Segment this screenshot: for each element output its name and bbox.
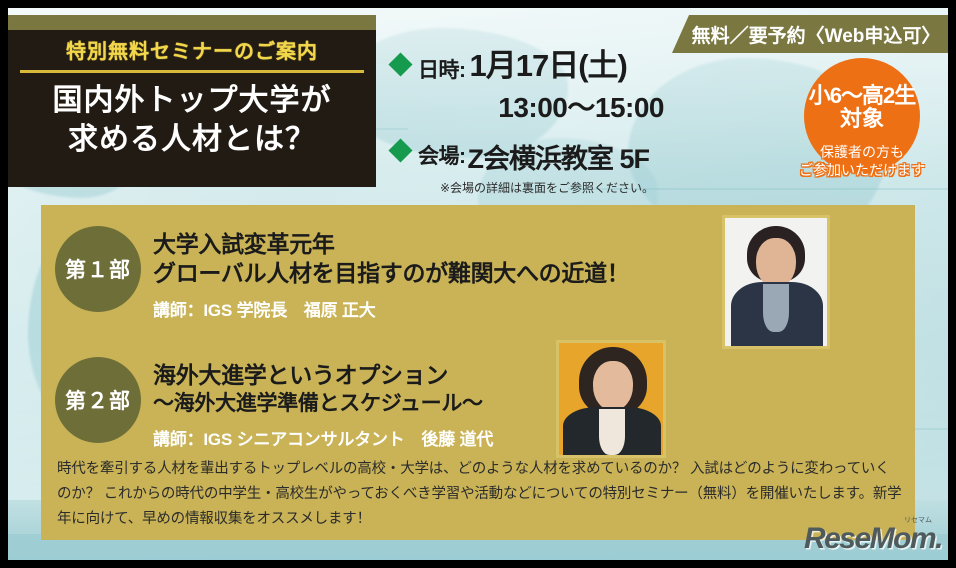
target-audience-badge: 小6〜高2生 対象 保護者の方も ご参加いただけます <box>804 58 920 174</box>
part-2: 第２部 海外大進学というオプション 〜海外大進学準備とスケジュール〜 講師：IG… <box>55 357 493 450</box>
venue-label: 会場: <box>418 140 466 170</box>
resemom-logo-ruby: リセマム <box>904 515 932 525</box>
part-1-badge: 第１部 <box>55 226 141 312</box>
part-2-lecturer: 講師：IGS シニアコンサルタント 後藤 道代 <box>153 425 493 450</box>
free-reservation-banner: 無料／要予約〈Web申込可〉 <box>672 15 948 53</box>
time-value: 13:00〜15:00 <box>392 86 682 126</box>
resemom-logo: ReseMom. リセマム <box>804 522 942 556</box>
part-2-title-line1: 海外大進学というオプション <box>153 361 493 390</box>
part-2-badge: 第２部 <box>55 357 141 443</box>
lecturer-2-photo <box>556 340 666 458</box>
flyer-canvas: 特別無料セミナーのご案内 国内外トップ大学が 求める人材とは？ 日時: 1月17… <box>0 0 956 568</box>
venue-value: Z会横浜教室 5F <box>468 137 650 176</box>
diamond-bullet-icon <box>388 138 412 162</box>
date-value: 1月17日(土) <box>470 50 627 81</box>
badge-line2: 対象 <box>804 107 920 131</box>
part-1-text: 大学入試変革元年 グローバル人材を目指すのが難関大への近道！ 講師：IGS 学院… <box>153 226 629 321</box>
header-title: 国内外トップ大学が 求める人材とは？ <box>8 81 376 159</box>
badge-line1: 小6〜高2生 <box>804 58 920 107</box>
badge-subtext: 保護者の方も ご参加いただけます <box>790 144 934 180</box>
header-subtitle: 特別無料セミナーのご案内 <box>8 35 376 64</box>
seminar-description: 時代を牽引する人材を輩出するトップレベルの高校・大学は、どのような人材を求めてい… <box>57 457 902 532</box>
venue-note: ※会場の詳細は裏面をご参照ください。 <box>392 179 682 196</box>
part-1-lecturer: 講師：IGS 学院長 福原 正大 <box>153 296 629 321</box>
header-title-line2: 求める人材とは？ <box>8 120 376 159</box>
part-1: 第１部 大学入試変革元年 グローバル人材を目指すのが難関大への近道！ 講師：IG… <box>55 226 629 321</box>
date-row: 日時: 1月17日(土) <box>392 48 682 84</box>
resemom-logo-text: ReseMom. <box>804 522 942 555</box>
part-1-title-line1: 大学入試変革元年 <box>153 230 629 259</box>
diamond-bullet-icon <box>388 52 412 76</box>
badge-subtext-line2: ご参加いただけます <box>790 162 934 180</box>
header-title-line1: 国内外トップ大学が <box>8 81 376 120</box>
header-top-strip <box>8 15 376 30</box>
part-2-title-line2: 〜海外大進学準備とスケジュール〜 <box>153 390 493 417</box>
header-divider <box>20 70 364 73</box>
banner-text: 無料／要予約〈Web申込可〉 <box>680 21 941 48</box>
part-2-text: 海外大進学というオプション 〜海外大進学準備とスケジュール〜 講師：IGS シニ… <box>153 357 493 450</box>
part-1-title-line2: グローバル人材を目指すのが難関大への近道！ <box>153 259 629 288</box>
venue-row: 会場: Z会横浜教室 5F <box>392 134 682 176</box>
badge-subtext-line1: 保護者の方も <box>790 144 934 162</box>
date-label: 日時: <box>418 54 466 84</box>
event-info: 日時: 1月17日(土) 13:00〜15:00 会場: Z会横浜教室 5F ※… <box>392 48 682 196</box>
header-box: 特別無料セミナーのご案内 国内外トップ大学が 求める人材とは？ <box>8 15 376 187</box>
lecturer-1-photo <box>722 215 830 349</box>
